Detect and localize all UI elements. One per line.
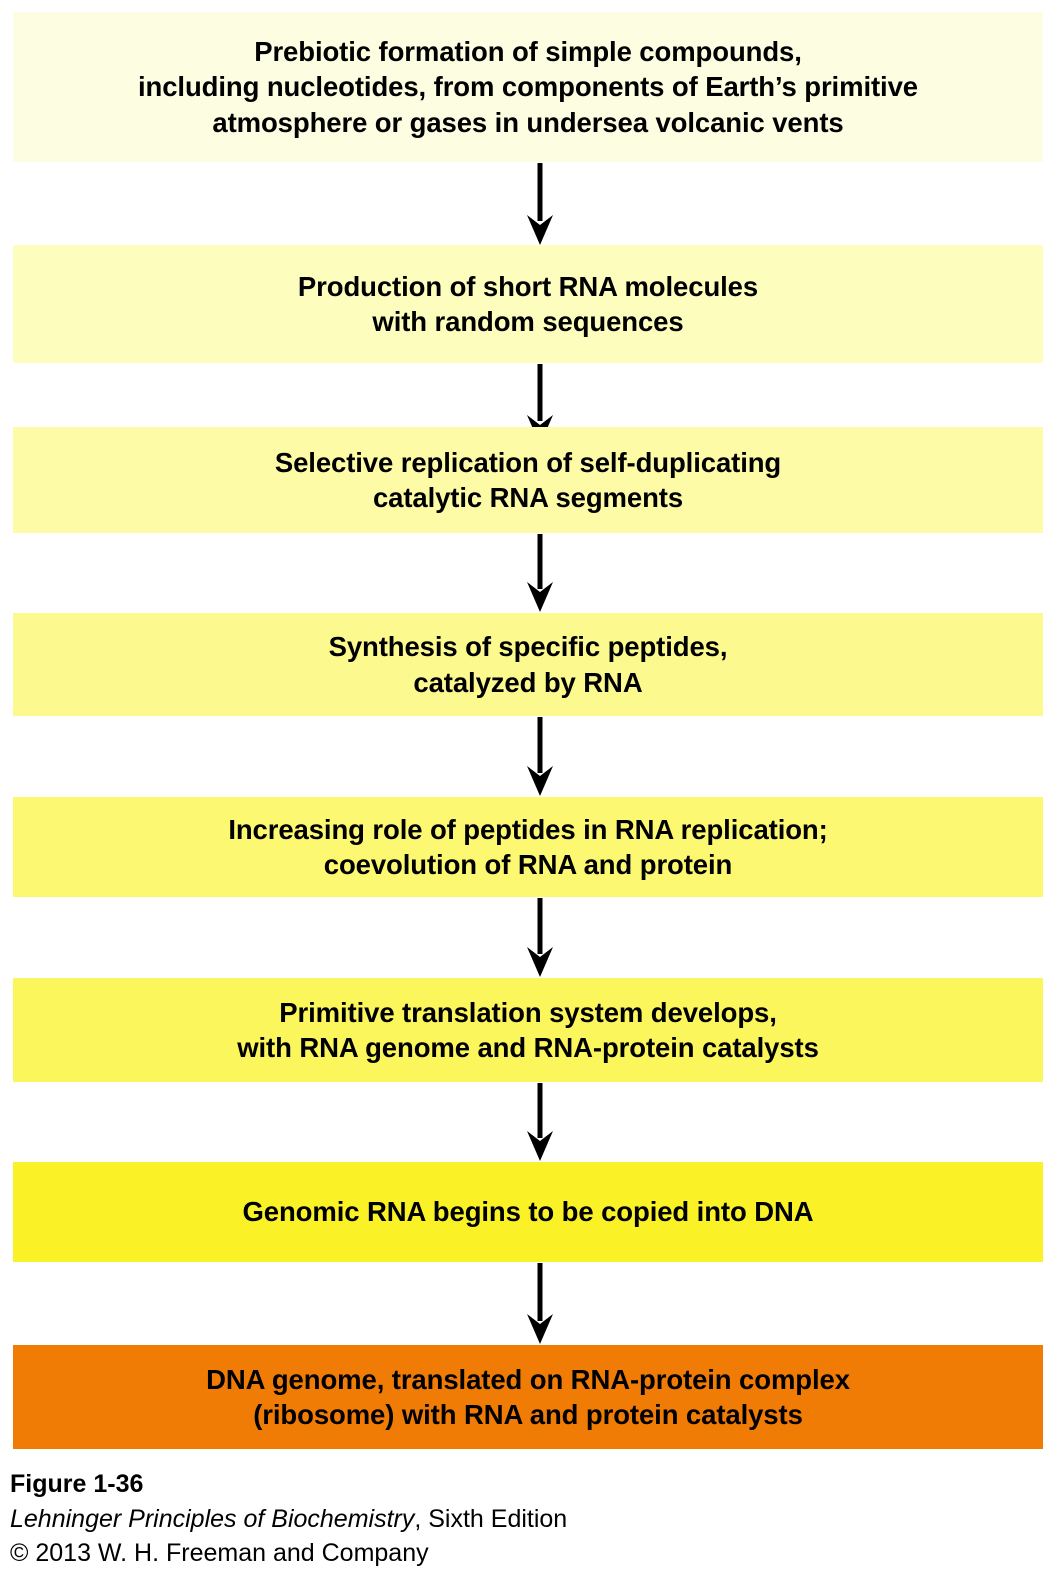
caption-source: Lehninger Principles of Biochemistry, Si… — [10, 1503, 710, 1536]
flow-step-1: Prebiotic formation of simple compounds,… — [13, 12, 1043, 162]
flow-arrow-3 — [524, 534, 556, 612]
flow-arrow-7 — [524, 1263, 556, 1344]
figure-caption: Figure 1-36 Lehninger Principles of Bioc… — [10, 1468, 710, 1570]
flow-step-8-label: DNA genome, translated on RNA-protein co… — [192, 1362, 864, 1432]
flow-arrow-1 — [524, 163, 556, 245]
flow-step-5-label: Increasing role of peptides in RNA repli… — [214, 812, 841, 882]
flow-step-3-label: Selective replication of self-duplicatin… — [261, 445, 795, 515]
caption-copyright: © 2013 W. H. Freeman and Company — [10, 1537, 710, 1570]
flow-step-7: Genomic RNA begins to be copied into DNA — [13, 1162, 1043, 1262]
flow-arrow-6 — [524, 1083, 556, 1161]
flow-step-2-label: Production of short RNA molecules with r… — [284, 269, 772, 339]
flow-step-7-label: Genomic RNA begins to be copied into DNA — [229, 1194, 828, 1229]
flow-step-8: DNA genome, translated on RNA-protein co… — [13, 1345, 1043, 1449]
flow-step-5: Increasing role of peptides in RNA repli… — [13, 797, 1043, 897]
flow-step-1-label: Prebiotic formation of simple compounds,… — [124, 34, 932, 140]
flow-step-6-label: Primitive translation system develops, w… — [223, 995, 833, 1065]
caption-edition: , Sixth Edition — [414, 1505, 567, 1533]
flow-step-3: Selective replication of self-duplicatin… — [13, 427, 1043, 533]
flow-step-4: Synthesis of specific peptides, catalyze… — [13, 613, 1043, 716]
flow-step-2: Production of short RNA molecules with r… — [13, 245, 1043, 363]
flow-arrow-5 — [524, 898, 556, 977]
flow-step-6: Primitive translation system develops, w… — [13, 978, 1043, 1082]
caption-book-title: Lehninger Principles of Biochemistry — [10, 1505, 414, 1533]
flow-arrow-4 — [524, 717, 556, 796]
caption-figure-number: Figure 1-36 — [10, 1468, 710, 1501]
figure-container: Prebiotic formation of simple compounds,… — [0, 0, 1055, 1578]
flow-step-4-label: Synthesis of specific peptides, catalyze… — [315, 629, 742, 699]
